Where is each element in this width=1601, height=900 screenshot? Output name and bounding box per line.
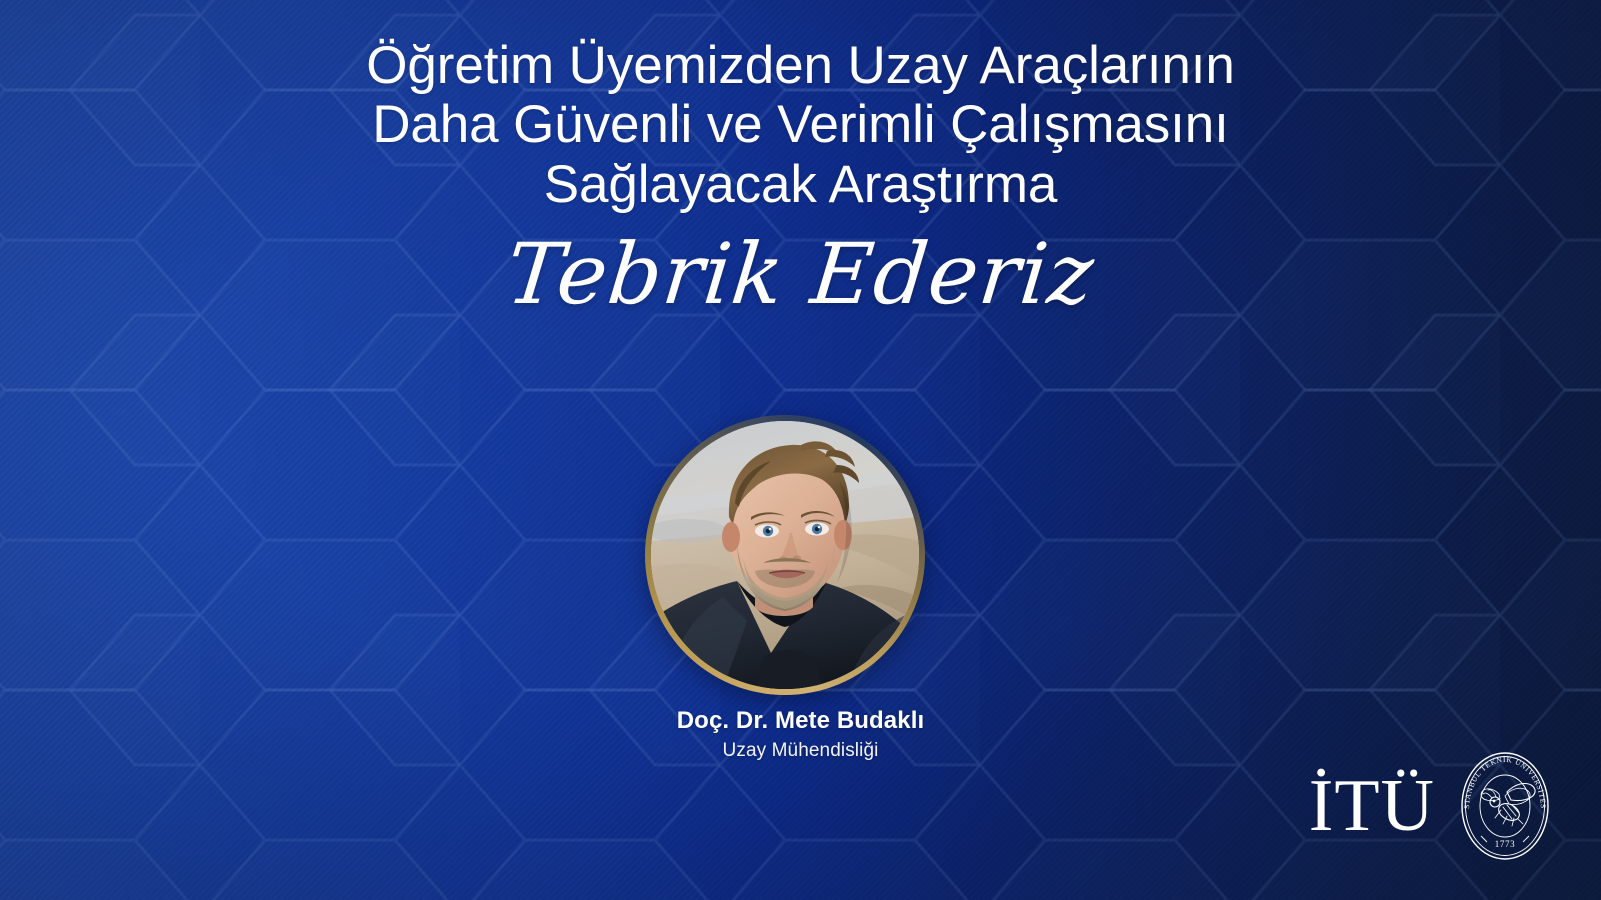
itu-logo: İTÜ İSTANBUL TEKNİK ÜNİVERSİTESİ [1309, 750, 1553, 862]
person-name: Doç. Dr. Mete Budaklı [0, 707, 1601, 735]
poster-content: Öğretim Üyemizden Uzay Araçlarının Daha … [0, 0, 1601, 900]
headline-line-1: Öğretim Üyemizden Uzay Araçlarının [0, 36, 1601, 95]
bee-icon [1481, 784, 1535, 827]
itu-seal: İSTANBUL TEKNİK ÜNİVERSİTESİ [1457, 750, 1553, 862]
svg-text:İSTANBUL TEKNİK ÜNİVERSİTESİ: İSTANBUL TEKNİK ÜNİVERSİTESİ [1457, 750, 1548, 809]
seal-year: 1773 [1495, 839, 1515, 849]
portrait [645, 415, 925, 695]
portrait-photo [651, 421, 919, 689]
headline-line-2: Daha Güvenli ve Verimli Çalışmasını [0, 95, 1601, 154]
headline: Öğretim Üyemizden Uzay Araçlarının Daha … [0, 36, 1601, 214]
poster-canvas: Öğretim Üyemizden Uzay Araçlarının Daha … [0, 0, 1601, 900]
itu-wordmark: İTÜ [1309, 771, 1435, 841]
seal-arc-text: İSTANBUL TEKNİK ÜNİVERSİTESİ [1457, 750, 1548, 809]
headline-line-3: Sağlayacak Araştırma [0, 155, 1601, 214]
congratulations-script-text: Tebrik Ederiz [0, 232, 1601, 316]
